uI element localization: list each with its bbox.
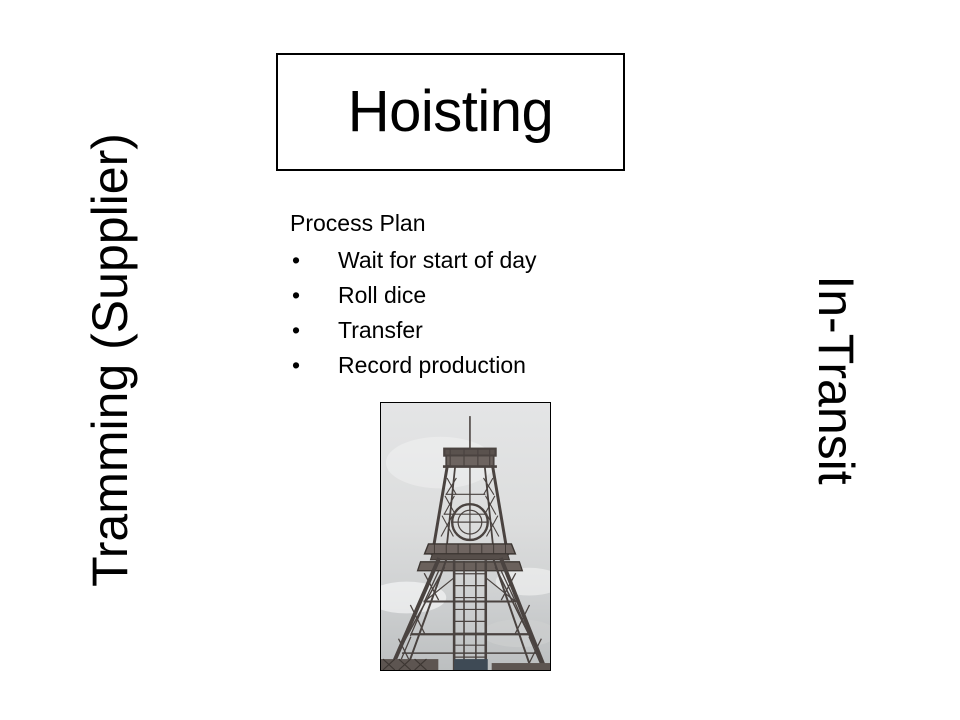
bullet-icon: • (292, 348, 300, 383)
title-box: Hoisting (276, 53, 625, 171)
process-plan-heading: Process Plan (290, 208, 620, 239)
list-item: • Transfer (290, 313, 620, 348)
lane-label-tramming-supplier: Tramming (Supplier) (77, 130, 143, 590)
list-item: • Roll dice (290, 278, 620, 313)
slide-canvas: Hoisting Process Plan • Wait for start o… (0, 0, 960, 720)
list-item-label: Transfer (338, 317, 423, 343)
lane-label-in-transit: In-Transit (803, 230, 869, 530)
process-plan-list: • Wait for start of day • Roll dice • Tr… (290, 243, 620, 383)
list-item: • Record production (290, 348, 620, 383)
mine-headframe-photo (380, 402, 551, 671)
list-item-label: Record production (338, 352, 526, 378)
headframe-illustration (381, 403, 550, 670)
bullet-icon: • (292, 243, 300, 278)
list-item: • Wait for start of day (290, 243, 620, 278)
process-plan-block: Process Plan • Wait for start of day • R… (290, 208, 620, 383)
list-item-label: Wait for start of day (338, 247, 537, 273)
list-item-label: Roll dice (338, 282, 426, 308)
bullet-icon: • (292, 278, 300, 313)
bullet-icon: • (292, 313, 300, 348)
page-title: Hoisting (348, 83, 554, 141)
